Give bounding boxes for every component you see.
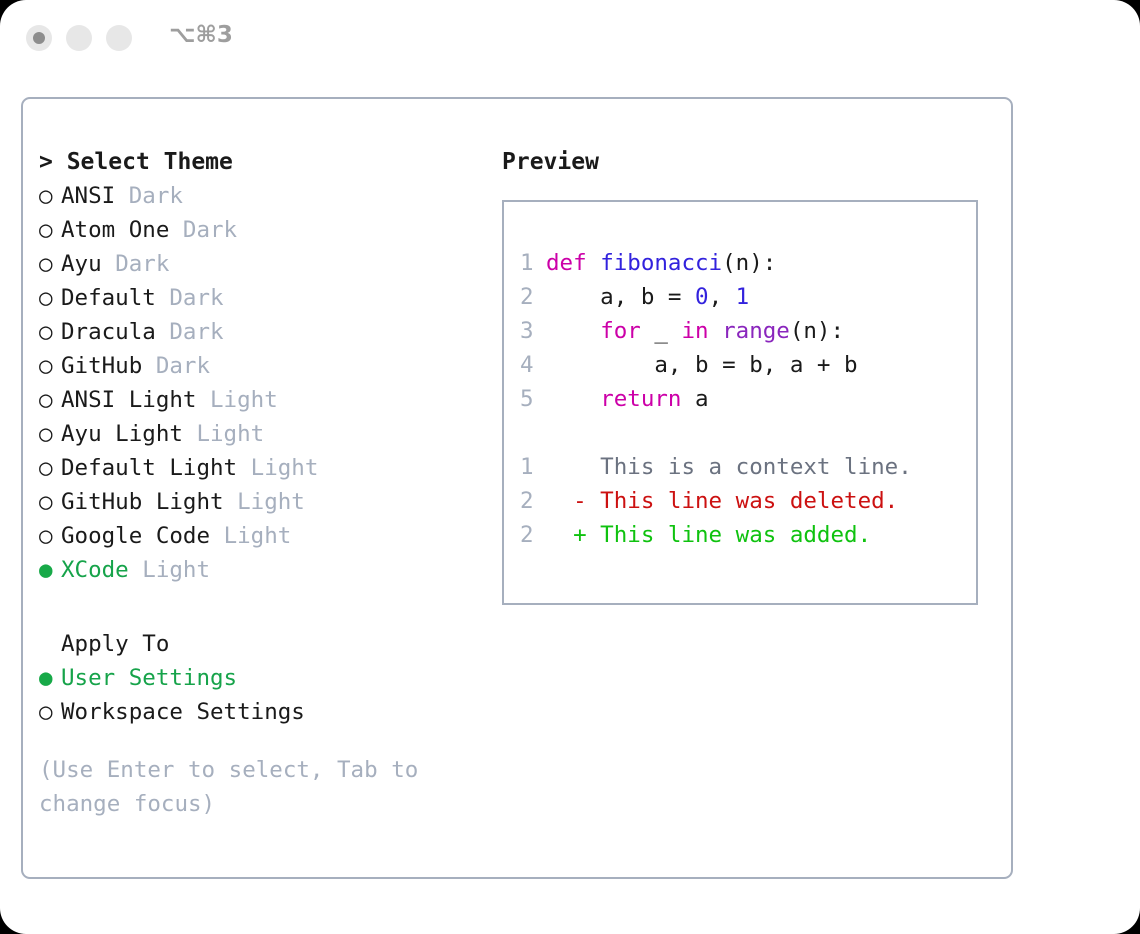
traffic-light-maximize-icon[interactable] xyxy=(106,25,132,51)
theme-option-name: Atom One xyxy=(61,217,183,243)
theme-option-dracula[interactable]: ○Dracula Dark xyxy=(39,315,489,349)
code-token: _ xyxy=(641,318,682,344)
line-number: 1 xyxy=(520,450,546,484)
code-token: a, b = xyxy=(546,284,695,310)
theme-option-github-light[interactable]: ○GitHub Light Light xyxy=(39,485,489,519)
line-number: 1 xyxy=(520,246,546,280)
theme-option-name: Google Code xyxy=(61,523,224,549)
code-token: def xyxy=(546,250,600,276)
code-token: 1 xyxy=(736,284,750,310)
theme-option-variant: Dark xyxy=(129,183,183,209)
code-token: in xyxy=(681,318,708,344)
code-token xyxy=(546,386,600,412)
theme-option-google-code[interactable]: ○Google Code Light xyxy=(39,519,489,553)
page-title: > Select Theme xyxy=(39,145,489,179)
theme-option-default-light[interactable]: ○Default Light Light xyxy=(39,451,489,485)
theme-option-variant: Light xyxy=(142,557,210,583)
theme-option-variant: Light xyxy=(196,421,264,447)
line-number: 2 xyxy=(520,484,546,518)
apply-to-list: ●User Settings○Workspace Settings xyxy=(39,661,489,729)
theme-option-variant: Light xyxy=(237,489,305,515)
radio-unselected-icon: ○ xyxy=(39,179,61,213)
code-line: 1def fibonacci(n): xyxy=(520,246,912,280)
theme-option-variant: Dark xyxy=(156,353,210,379)
window-titlebar: ⌥⌘3 xyxy=(0,0,1140,78)
apply-to-option-name: Workspace Settings xyxy=(61,699,305,725)
theme-option-ayu-light[interactable]: ○Ayu Light Light xyxy=(39,417,489,451)
apply-to-option-user-settings[interactable]: ●User Settings xyxy=(39,661,489,695)
diff-line-added: 2 + This line was added. xyxy=(520,518,912,552)
keyboard-hint: (Use Enter to select, Tab to change focu… xyxy=(39,753,459,821)
main-panel: > Select Theme ○ANSI Dark○Atom One Dark○… xyxy=(21,97,1013,879)
theme-option-variant: Light xyxy=(210,387,278,413)
theme-option-github[interactable]: ○GitHub Dark xyxy=(39,349,489,383)
line-number: 5 xyxy=(520,382,546,416)
preview-box: 1def fibonacci(n):2 a, b = 0, 13 for _ i… xyxy=(502,200,978,605)
code-token: , xyxy=(709,284,736,310)
theme-option-xcode[interactable]: ●XCode Light xyxy=(39,553,489,587)
diff-line-context: 1 This is a context line. xyxy=(520,450,912,484)
radio-unselected-icon: ○ xyxy=(39,315,61,349)
radio-unselected-icon: ○ xyxy=(39,349,61,383)
diff-marker xyxy=(546,454,587,480)
radio-unselected-icon: ○ xyxy=(39,519,61,553)
theme-option-default[interactable]: ○Default Dark xyxy=(39,281,489,315)
radio-unselected-icon: ○ xyxy=(39,247,61,281)
prompt-caret: > xyxy=(39,149,67,175)
radio-selected-icon: ● xyxy=(39,661,61,695)
diff-text: This line was deleted. xyxy=(587,488,899,514)
theme-option-name: ANSI xyxy=(61,183,129,209)
code-blank-line xyxy=(520,416,912,450)
theme-option-ansi[interactable]: ○ANSI Dark xyxy=(39,179,489,213)
line-number: 4 xyxy=(520,348,546,382)
theme-option-name: Default xyxy=(61,285,169,311)
traffic-light-minimize-icon[interactable] xyxy=(66,25,92,51)
theme-option-variant: Dark xyxy=(115,251,169,277)
line-number: 2 xyxy=(520,280,546,314)
theme-option-name: XCode xyxy=(61,557,142,583)
keyboard-shortcut-label: ⌥⌘3 xyxy=(169,22,233,48)
diff-text: This line was added. xyxy=(587,522,871,548)
theme-option-variant: Dark xyxy=(169,285,223,311)
code-token xyxy=(709,318,723,344)
radio-unselected-icon: ○ xyxy=(39,417,61,451)
code-token: a xyxy=(681,386,708,412)
radio-selected-icon: ● xyxy=(39,553,61,587)
radio-unselected-icon: ○ xyxy=(39,695,61,729)
preview-title: Preview xyxy=(502,145,992,179)
code-token: 0 xyxy=(695,284,709,310)
code-token: fibonacci xyxy=(600,250,722,276)
theme-option-variant: Dark xyxy=(169,319,223,345)
radio-unselected-icon: ○ xyxy=(39,451,61,485)
radio-unselected-icon: ○ xyxy=(39,485,61,519)
code-sample: 1def fibonacci(n):2 a, b = 0, 13 for _ i… xyxy=(520,246,912,552)
line-number: 2 xyxy=(520,518,546,552)
theme-option-variant: Light xyxy=(224,523,292,549)
radio-unselected-icon: ○ xyxy=(39,383,61,417)
theme-option-ansi-light[interactable]: ○ANSI Light Light xyxy=(39,383,489,417)
theme-option-name: GitHub Light xyxy=(61,489,237,515)
code-token: range xyxy=(722,318,790,344)
radio-unselected-icon: ○ xyxy=(39,213,61,247)
theme-option-name: GitHub xyxy=(61,353,156,379)
apply-to-option-name: User Settings xyxy=(61,665,237,691)
theme-option-name: Ayu xyxy=(61,251,115,277)
app-window: ⌥⌘3 > Select Theme ○ANSI Dark○Atom One D… xyxy=(0,0,1140,934)
preview-column: Preview 1def fibonacci(n):2 a, b = 0, 13… xyxy=(502,145,992,605)
theme-list: ○ANSI Dark○Atom One Dark○Ayu Dark○Defaul… xyxy=(39,179,489,587)
diff-marker: + xyxy=(546,522,587,548)
code-line: 5 return a xyxy=(520,382,912,416)
apply-to-option-workspace-settings[interactable]: ○Workspace Settings xyxy=(39,695,489,729)
code-line: 2 a, b = 0, 1 xyxy=(520,280,912,314)
apply-to-label: Apply To xyxy=(39,627,489,661)
radio-unselected-icon: ○ xyxy=(39,281,61,315)
diff-text: This is a context line. xyxy=(587,454,912,480)
diff-line-deleted: 2 - This line was deleted. xyxy=(520,484,912,518)
line-number: 3 xyxy=(520,314,546,348)
record-dot-icon xyxy=(33,32,45,44)
theme-option-name: Dracula xyxy=(61,319,169,345)
code-token: (n): xyxy=(722,250,776,276)
code-line: 4 a, b = b, a + b xyxy=(520,348,912,382)
theme-option-name: Ayu Light xyxy=(61,421,196,447)
code-token: for xyxy=(600,318,641,344)
spacer xyxy=(39,587,489,627)
theme-option-variant: Dark xyxy=(183,217,237,243)
code-token: a, b = b, a + b xyxy=(546,352,858,378)
code-line: 3 for _ in range(n): xyxy=(520,314,912,348)
theme-option-variant: Light xyxy=(251,455,319,481)
theme-option-name: Default Light xyxy=(61,455,251,481)
page-title-text: Select Theme xyxy=(67,149,233,175)
theme-picker-column: > Select Theme ○ANSI Dark○Atom One Dark○… xyxy=(39,145,489,821)
theme-option-atom-one[interactable]: ○Atom One Dark xyxy=(39,213,489,247)
diff-marker: - xyxy=(546,488,587,514)
theme-option-ayu[interactable]: ○Ayu Dark xyxy=(39,247,489,281)
code-token xyxy=(546,318,600,344)
code-token: (n): xyxy=(790,318,844,344)
theme-option-name: ANSI Light xyxy=(61,387,210,413)
code-token: return xyxy=(600,386,681,412)
